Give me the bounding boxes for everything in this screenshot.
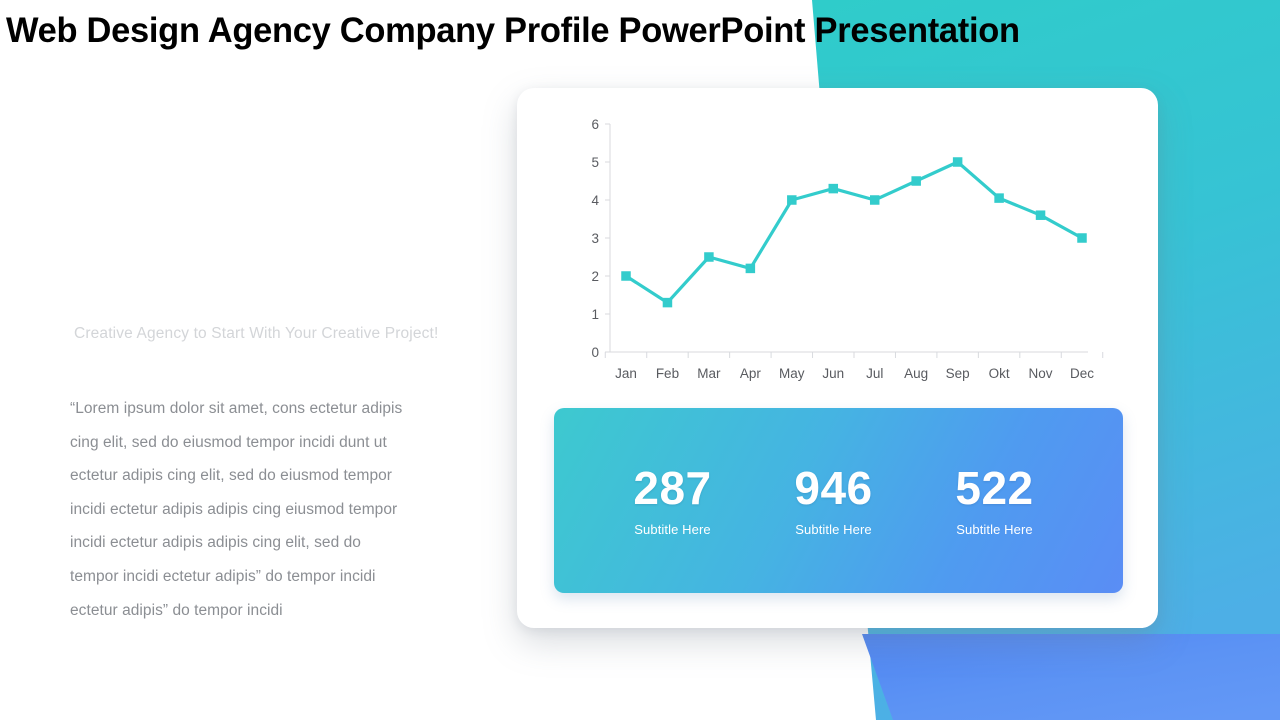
data-point-marker [870, 195, 880, 205]
kpi-label: Subtitle Here [753, 521, 914, 539]
data-point-marker [663, 298, 673, 308]
x-axis-tick-label: Dec [1070, 366, 1094, 381]
tagline: Creative Agency to Start With Your Creat… [74, 323, 494, 345]
series-markers [621, 157, 1087, 307]
kpi-panel: 287 Subtitle Here 946 Subtitle Here 522 … [554, 408, 1123, 593]
slide-canvas: Web Design Agency Company Profile PowerP… [0, 0, 1280, 720]
body-line: incidi ectetur adipis adipis cing elit, … [70, 526, 470, 560]
kpi-label: Subtitle Here [914, 521, 1075, 539]
data-point-marker [953, 157, 963, 167]
x-axis-tick-label: Apr [740, 366, 762, 381]
y-axis-tick-labels: 0123456 [591, 117, 599, 360]
body-line: cing elit, sed do eiusmod tempor incidi … [70, 426, 470, 460]
data-point-marker [621, 271, 631, 281]
x-axis-tick-label: Aug [904, 366, 928, 381]
x-axis-tick-labels: JanFebMarAprMayJunJulAugSepOktNovDec [615, 366, 1094, 381]
kpi-item: 287 Subtitle Here [592, 463, 753, 539]
body-line: ectetur adipis cing elit, sed do eiusmod… [70, 459, 470, 493]
x-axis-tick-label: Sep [946, 366, 970, 381]
x-axis-tick-marks [605, 352, 1102, 358]
data-point-marker [704, 252, 714, 262]
page-title: Web Design Agency Company Profile PowerP… [6, 8, 1259, 54]
kpi-label: Subtitle Here [592, 521, 753, 539]
line-chart-svg: 0123456 JanFebMarAprMayJunJulAugSepOktNo… [517, 88, 1158, 393]
content-card: 0123456 JanFebMarAprMayJunJulAugSepOktNo… [517, 88, 1158, 628]
y-axis-tick-label: 6 [591, 117, 599, 132]
y-axis-tick-marks [605, 124, 610, 352]
kpi-value: 522 [914, 463, 1075, 513]
x-axis-tick-label: Jan [615, 366, 637, 381]
y-axis-tick-label: 3 [591, 231, 599, 246]
x-axis-tick-label: Nov [1029, 366, 1053, 381]
y-axis-tick-label: 4 [591, 193, 599, 208]
kpi-value: 946 [753, 463, 914, 513]
data-point-marker [1077, 233, 1087, 243]
y-axis-tick-label: 2 [591, 269, 599, 284]
x-axis-tick-label: Okt [989, 366, 1010, 381]
data-point-marker [829, 184, 839, 194]
body-line: incidi ectetur adipis adipis cing eiusmo… [70, 493, 470, 527]
x-axis-tick-label: Feb [656, 366, 679, 381]
data-point-marker [787, 195, 797, 205]
x-axis-tick-label: Jun [822, 366, 844, 381]
y-axis-tick-label: 0 [591, 345, 599, 360]
y-axis-tick-label: 1 [591, 307, 599, 322]
kpi-value: 287 [592, 463, 753, 513]
body-paragraph: “Lorem ipsum dolor sit amet, cons ectetu… [70, 392, 470, 627]
y-axis-tick-label: 5 [591, 155, 599, 170]
data-point-marker [746, 264, 756, 274]
data-point-marker [994, 193, 1004, 203]
data-point-marker [911, 176, 921, 186]
body-line: tempor incidi ectetur adipis” do tempor … [70, 560, 470, 594]
x-axis-tick-label: May [779, 366, 805, 381]
line-chart: 0123456 JanFebMarAprMayJunJulAugSepOktNo… [517, 88, 1158, 393]
kpi-item: 522 Subtitle Here [914, 463, 1075, 539]
series-line [626, 162, 1082, 303]
blue-wedge-shape [862, 634, 1280, 720]
x-axis-tick-label: Mar [697, 366, 721, 381]
data-point-marker [1036, 210, 1046, 220]
body-line: “Lorem ipsum dolor sit amet, cons ectetu… [70, 392, 470, 426]
body-line: ectetur adipis” do tempor incidi [70, 594, 470, 628]
kpi-item: 946 Subtitle Here [753, 463, 914, 539]
x-axis-tick-label: Jul [866, 366, 883, 381]
